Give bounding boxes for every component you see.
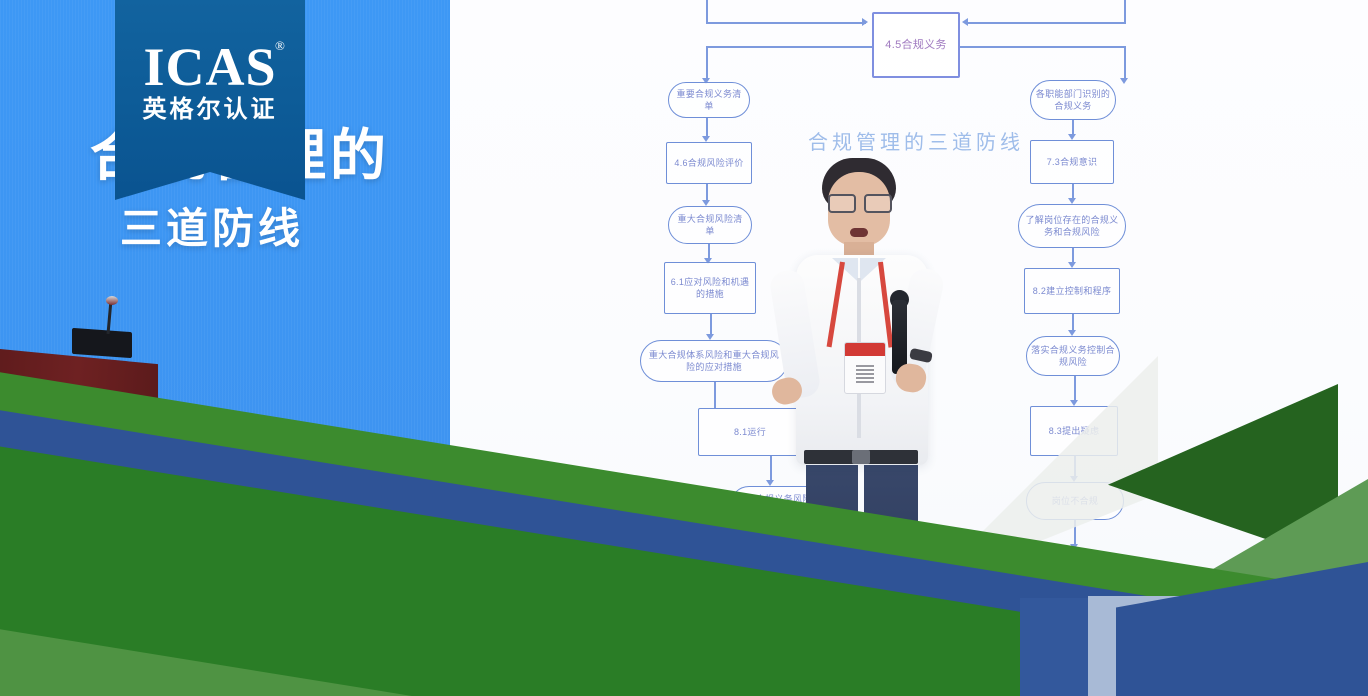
connector <box>960 46 1126 48</box>
icas-logo-panel: ICAS ® 英格尔认证 <box>115 0 305 200</box>
podium-microphone-icon <box>106 296 118 305</box>
name-badge-header <box>845 343 885 356</box>
flow-node-right-5: 落实合规义务控制合规风险 <box>1026 336 1120 376</box>
connector <box>706 118 708 138</box>
name-badge <box>844 342 886 394</box>
connector <box>1124 46 1126 80</box>
connector <box>710 314 712 336</box>
glasses-icon <box>828 194 856 213</box>
arrow-icon <box>1120 78 1128 84</box>
connector <box>706 0 708 24</box>
conference-stage-photo: 合规管理的 三道防线 ICAS ® 英格尔认证 合规管理的三道防线 4.5合规义… <box>0 0 1368 696</box>
flow-node-left-2: 4.6合规风险评价 <box>666 142 752 184</box>
flow-node-right-1: 各职能部门识别的合规义务 <box>1030 80 1116 120</box>
registered-trademark-icon: ® <box>275 38 285 54</box>
flow-node-left-4: 6.1应对风险和机遇的措施 <box>664 262 756 314</box>
arrow-icon <box>862 18 868 26</box>
connector <box>1124 0 1126 24</box>
connector <box>1074 376 1076 402</box>
flow-node-right-3: 了解岗位存在的合规义务和合规风险 <box>1018 204 1126 248</box>
connector <box>966 22 1126 24</box>
speaker-mouth <box>850 228 868 237</box>
flow-node-right-4: 8.2建立控制和程序 <box>1024 268 1120 314</box>
glasses-icon <box>864 194 892 213</box>
qr-code-icon <box>856 365 874 383</box>
podium-top-surface <box>72 328 132 358</box>
connector <box>706 22 866 24</box>
icas-chinese-name: 英格尔认证 <box>115 98 305 122</box>
belt-buckle-icon <box>852 450 870 464</box>
arrow-icon <box>962 18 968 26</box>
decor-dark-blue-block <box>1020 598 1098 696</box>
flow-node-left-1: 重要合规义务清单 <box>668 82 750 118</box>
handheld-microphone-body <box>892 300 907 374</box>
wall-headline-line2: 三道防线 <box>120 208 304 250</box>
flow-node-left-3: 重大合规风险清单 <box>668 206 752 244</box>
flow-node-center: 4.5合规义务 <box>872 12 960 78</box>
connector <box>706 46 872 48</box>
connector <box>714 382 716 408</box>
connector <box>706 46 708 80</box>
flow-node-right-2: 7.3合规意识 <box>1030 140 1114 184</box>
